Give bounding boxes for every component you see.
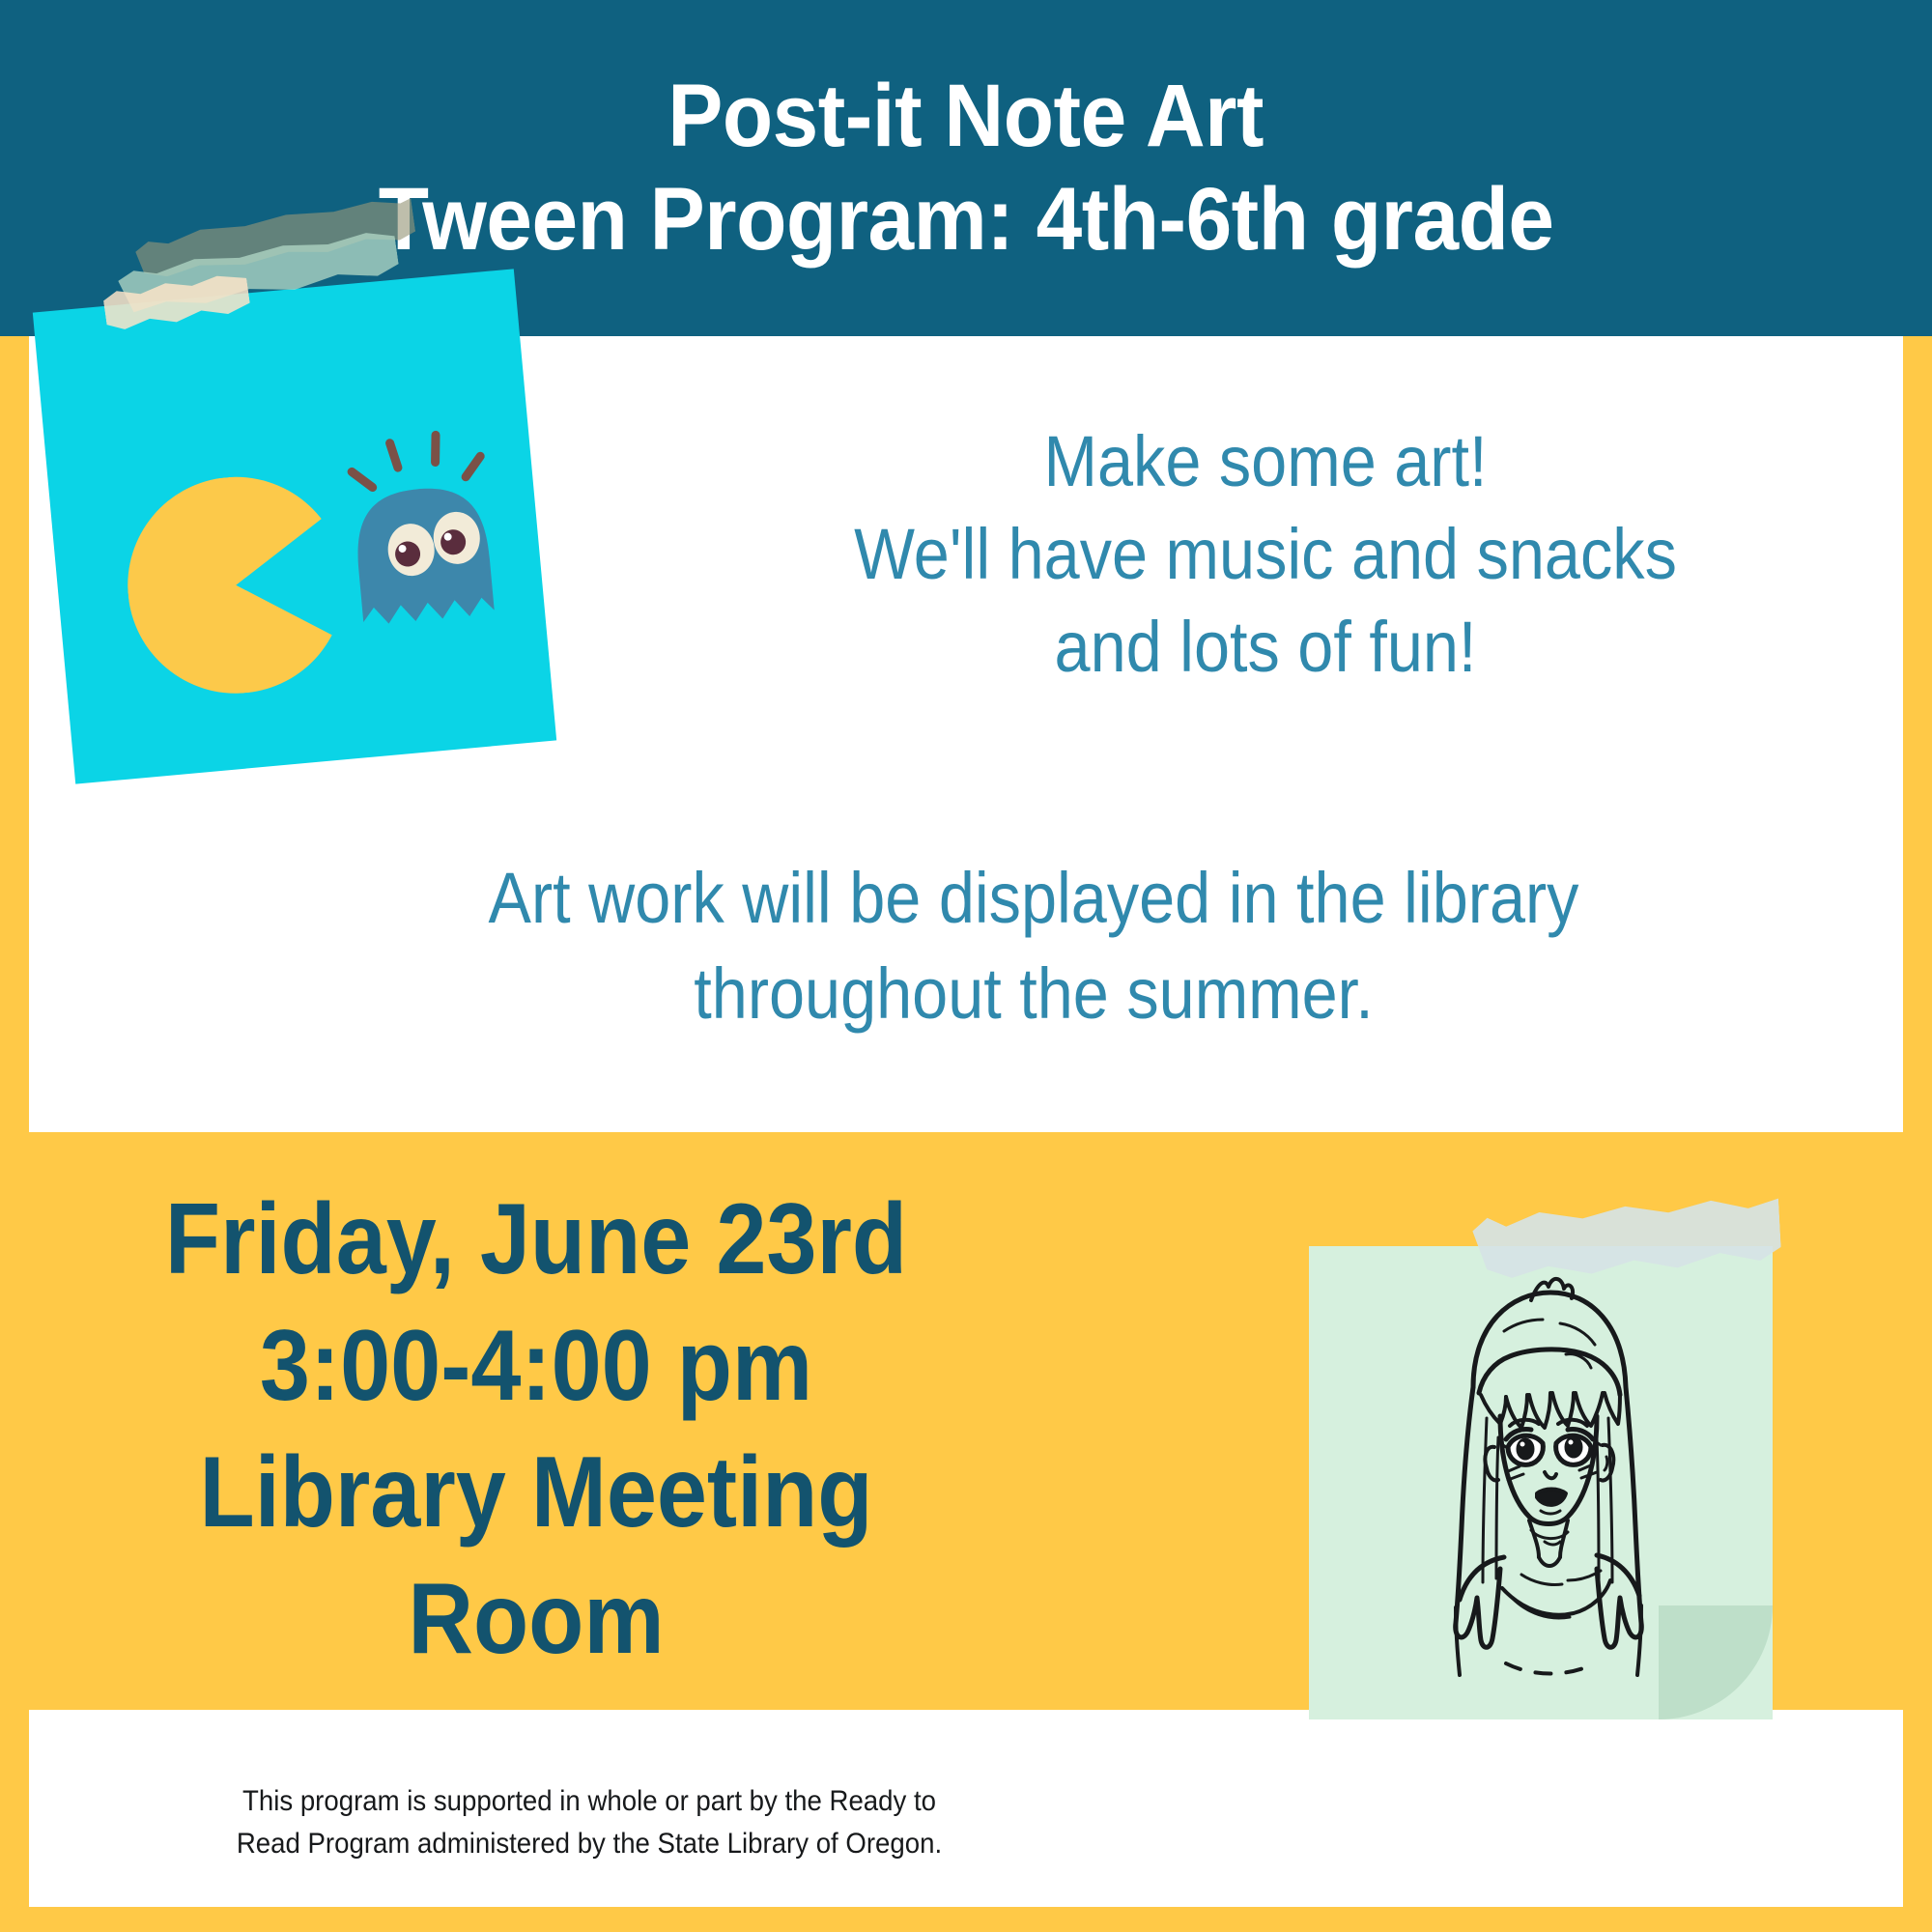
sticky-note-cyan-paper <box>33 269 556 783</box>
frame-stripe-left <box>0 336 29 1932</box>
frame-stripe-bottom <box>0 1907 1932 1932</box>
sticky-note-green-paper <box>1309 1246 1773 1719</box>
funding-credit-line-2: Read Program administered by the State L… <box>145 1823 1034 1865</box>
body-paragraph-one: Make some art! We'll have music and snac… <box>735 415 1796 695</box>
event-details: Friday, June 23rd 3:00-4:00 pm Library M… <box>89 1177 984 1683</box>
manga-girl-sticky-note <box>1309 1246 1889 1787</box>
pacman-icon <box>119 468 354 702</box>
poster-title-line-2: Tween Program: 4th-6th grade <box>379 168 1554 271</box>
event-time: 3:00-4:00 pm <box>89 1303 984 1430</box>
funding-credit-line-1: This program is supported in whole or pa… <box>145 1780 1034 1823</box>
event-date: Friday, June 23rd <box>89 1177 984 1303</box>
poster-title-line-1: Post-it Note Art <box>668 65 1264 168</box>
body-line-2: We'll have music and snacks <box>735 508 1796 601</box>
poster-canvas: Post-it Note Art Tween Program: 4th-6th … <box>0 0 1932 1932</box>
body-line-3: and lots of fun! <box>735 601 1796 694</box>
sticky-note-curled-corner <box>1659 1605 1773 1719</box>
funding-credit: This program is supported in whole or pa… <box>145 1780 1034 1866</box>
body-line-1: Make some art! <box>735 415 1796 508</box>
event-location: Library Meeting Room <box>89 1430 984 1683</box>
body-line-4: Art work will be displayed in the librar… <box>295 850 1773 946</box>
pacman-sticky-note <box>53 290 555 792</box>
body-line-5: throughout the summer. <box>295 946 1773 1041</box>
frame-stripe-right <box>1903 336 1932 1932</box>
ghost-icon <box>334 416 507 642</box>
body-paragraph-two: Art work will be displayed in the librar… <box>295 850 1773 1041</box>
